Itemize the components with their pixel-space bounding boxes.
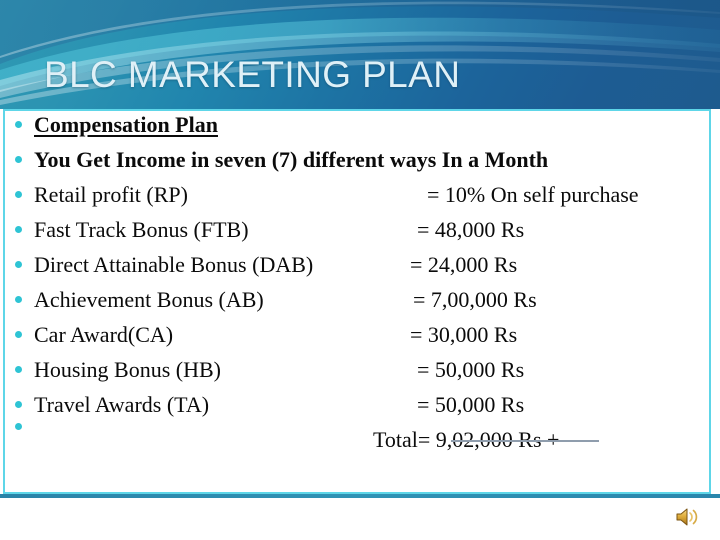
list-item-value: = 50,000 Rs [417,392,524,418]
bullet-icon [15,423,22,430]
speaker-sound-icon[interactable] [675,505,701,529]
presentation-slide: BLC MARKETING PLAN Compensation Plan You… [0,0,720,540]
bullet-icon [15,156,22,163]
list-item-label: Direct Attainable Bonus (DAB) [34,252,313,278]
list-item-value: = 50,000 Rs [417,357,524,383]
list-item: Travel Awards (TA) = 50,000 Rs [5,392,709,427]
list-item-label: Achievement Bonus (AB) [34,287,264,313]
list-item-label: Car Award(CA) [34,322,173,348]
bullet-icon [15,261,22,268]
list-item: You Get Income in seven (7) different wa… [5,147,709,182]
bullet-icon [15,331,22,338]
bullet-icon [15,191,22,198]
list-item: Retail profit (RP) = 10% On self purchas… [5,182,709,217]
list-item-value: = 24,000 Rs [410,252,517,278]
list-item-total: Total= 9,02,000 Rs + [5,427,709,462]
slide-content-area: Compensation Plan You Get Income in seve… [3,109,711,494]
list-item-label: Travel Awards (TA) [34,392,209,418]
list-item-value: = 10% On self purchase [427,182,639,208]
list-item-label: Housing Bonus (HB) [34,357,221,383]
list-item-value: = 48,000 Rs [417,217,524,243]
bullet-icon [15,296,22,303]
bullet-icon [15,226,22,233]
list-item: Fast Track Bonus (FTB) = 48,000 Rs [5,217,709,252]
list-item: Compensation Plan [5,112,709,147]
slide-footer [0,497,720,540]
slide-header-banner: BLC MARKETING PLAN [0,0,720,109]
page-title: BLC MARKETING PLAN [44,54,460,96]
list-item-value: = 7,00,000 Rs [413,287,537,313]
list-item-value: = 30,000 Rs [410,322,517,348]
bullet-icon [15,366,22,373]
list-item-label: Compensation Plan [34,112,218,138]
sum-rule-divider [451,440,599,442]
list-item: Direct Attainable Bonus (DAB) = 24,000 R… [5,252,709,287]
list-item: Housing Bonus (HB) = 50,000 Rs [5,357,709,392]
list-item: Achievement Bonus (AB) = 7,00,000 Rs [5,287,709,322]
list-item-label: You Get Income in seven (7) different wa… [34,147,548,173]
list-item-label: Retail profit (RP) [34,182,188,208]
list-item-label: Fast Track Bonus (FTB) [34,217,249,243]
list-item: Car Award(CA) = 30,000 Rs [5,322,709,357]
bullet-icon [15,121,22,128]
bullet-icon [15,401,22,408]
